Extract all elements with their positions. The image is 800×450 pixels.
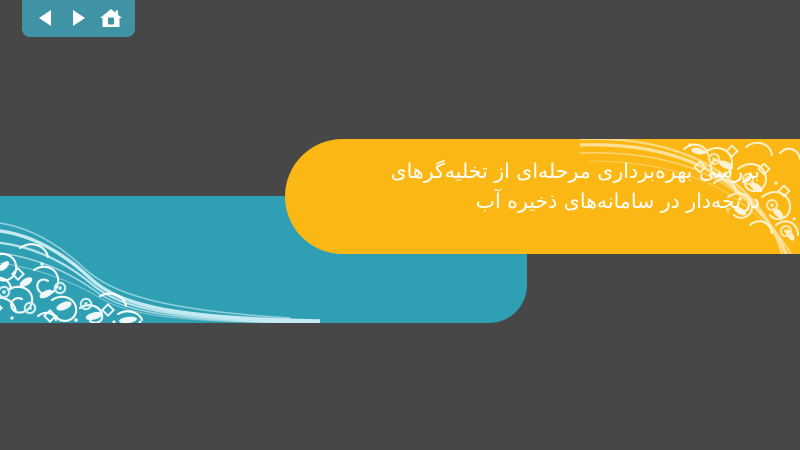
- page-title: بررسی بهره‌برداری مرحله‌ای از تخلیه‌گرها…: [330, 156, 760, 216]
- arabesque-ornament-teal: [0, 196, 320, 323]
- triangle-right-icon: [69, 8, 87, 28]
- house-icon: [99, 7, 123, 29]
- title-line-2: دریچه‌دار در سامانه‌های ذخیره آب: [330, 186, 760, 216]
- title-line-1: بررسی بهره‌برداری مرحله‌ای از تخلیه‌گرها…: [330, 156, 760, 186]
- presentation-slide: بررسی بهره‌برداری مرحله‌ای از تخلیه‌گرها…: [0, 0, 800, 450]
- back-button[interactable]: [33, 5, 59, 31]
- home-button[interactable]: [98, 5, 124, 31]
- navigation-bar: [22, 0, 135, 37]
- forward-button[interactable]: [65, 5, 91, 31]
- triangle-left-icon: [37, 8, 55, 28]
